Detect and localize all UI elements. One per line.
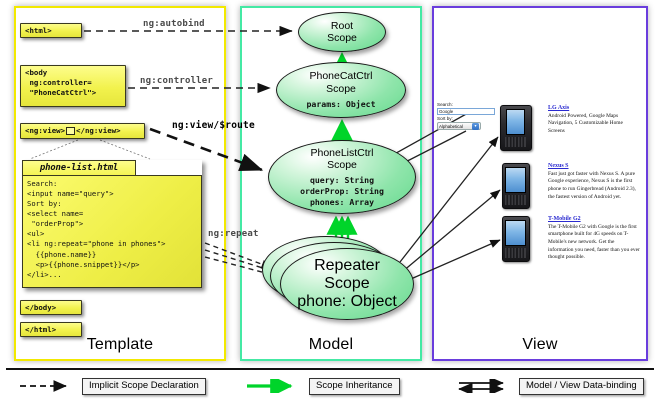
legend-label: Model / View Data-binding [519,378,644,395]
scope-root-name: Root Scope [327,20,357,45]
tag-ngview-open: <ng:view> [25,126,65,135]
phone-text: LG Axis Android Powered, Google Maps Nav… [548,105,640,136]
phone-snippet: The T-Mobile G2 with Google is the first… [548,224,640,262]
panel-model-label: Model [242,336,420,354]
tag-ngview: <ng:view></ng:view> [20,123,145,139]
scope-phonecatctrl-props: params: Object [306,99,375,110]
tag-body-close: </body> [20,300,82,315]
phone-device-icon [500,163,530,209]
phone-list-callout: phone-list.html Search: <input name="que… [22,160,202,288]
panel-template-label: Template [16,336,224,354]
scope-repeater-name: Repeater Scope [314,257,380,293]
sort-select[interactable]: Alphabetical▾ [437,122,481,130]
scope-repeater-props: phone: Object [297,293,397,311]
phone-text: Nexus S Fast just got faster with Nexus … [548,163,640,201]
phone-text: T-Mobile G2 The T-Mobile G2 with Google … [548,216,640,262]
ngview-placeholder-icon [66,127,75,135]
green-arrow-icon [245,379,303,393]
tag-ngview-close: </ng:view> [76,126,121,135]
connector-label-ng-controller: ng:controller [140,76,213,86]
connector-label-ng-repeat: ng:repeat [208,229,259,239]
phone-snippet: Android Powered, Google Maps Navigation,… [548,113,640,136]
sort-select-value: Alphabetical [439,124,463,129]
phone-device-icon [500,216,530,262]
panel-view-label: View [434,336,646,354]
scope-phonelistctrl: PhoneListCtrl Scope query: String orderP… [268,140,416,214]
tag-html-close: </html> [20,322,82,337]
legend-item-model-view-data-binding: Model / View Data-binding [455,378,644,395]
scope-repeater-front: Repeater Scope phone: Object [280,248,414,320]
scope-phonelistctrl-name: PhoneListCtrl Scope [310,147,373,172]
scope-repeater-stack: Repeater Scope phone: Object [262,236,422,328]
scope-root: Root Scope [298,12,386,52]
callout-title: phone-list.html [22,160,136,176]
scope-phonelistctrl-props: query: String orderProp: String phones: … [300,175,384,207]
phone-device-icon [500,105,530,151]
view-search-widget: Search: Google Sort by: Alphabetical▾ [437,102,499,130]
double-arrow-icon [455,379,513,393]
callout-code: Search: <input name="query"> Sort by: <s… [22,175,202,288]
scope-phonecatctrl: PhoneCatCtrl Scope params: Object [276,62,406,118]
connector-label-ng-autobind: ng:autobind [143,19,205,29]
phone-name-link[interactable]: LG Axis [548,105,640,111]
legend-divider [6,368,654,370]
search-input[interactable]: Google [437,108,495,115]
connector-label-ng-view-route: ng:view/$route [172,120,255,131]
phone-name-link[interactable]: T-Mobile G2 [548,216,640,222]
legend-label: Scope Inheritance [309,378,400,395]
chevron-down-icon: ▾ [472,123,479,130]
diagram-canvas: Template Model View [0,0,660,405]
legend-item-implicit-scope-declaration: Implicit Scope Declaration [18,378,206,395]
legend-label: Implicit Scope Declaration [82,378,206,395]
tag-html-open: <html> [20,23,82,38]
phone-name-link[interactable]: Nexus S [548,163,640,169]
legend-item-scope-inheritance: Scope Inheritance [245,378,400,395]
tag-body-open: <body ng:controller= "PhoneCatCtrl"> [20,65,126,107]
scope-phonecatctrl-name: PhoneCatCtrl Scope [309,70,372,95]
phone-snippet: Fast just got faster with Nexus S. A pur… [548,171,640,202]
legend: Implicit Scope Declaration Scope Inherit… [0,368,660,405]
dashed-arrow-icon [18,379,76,393]
